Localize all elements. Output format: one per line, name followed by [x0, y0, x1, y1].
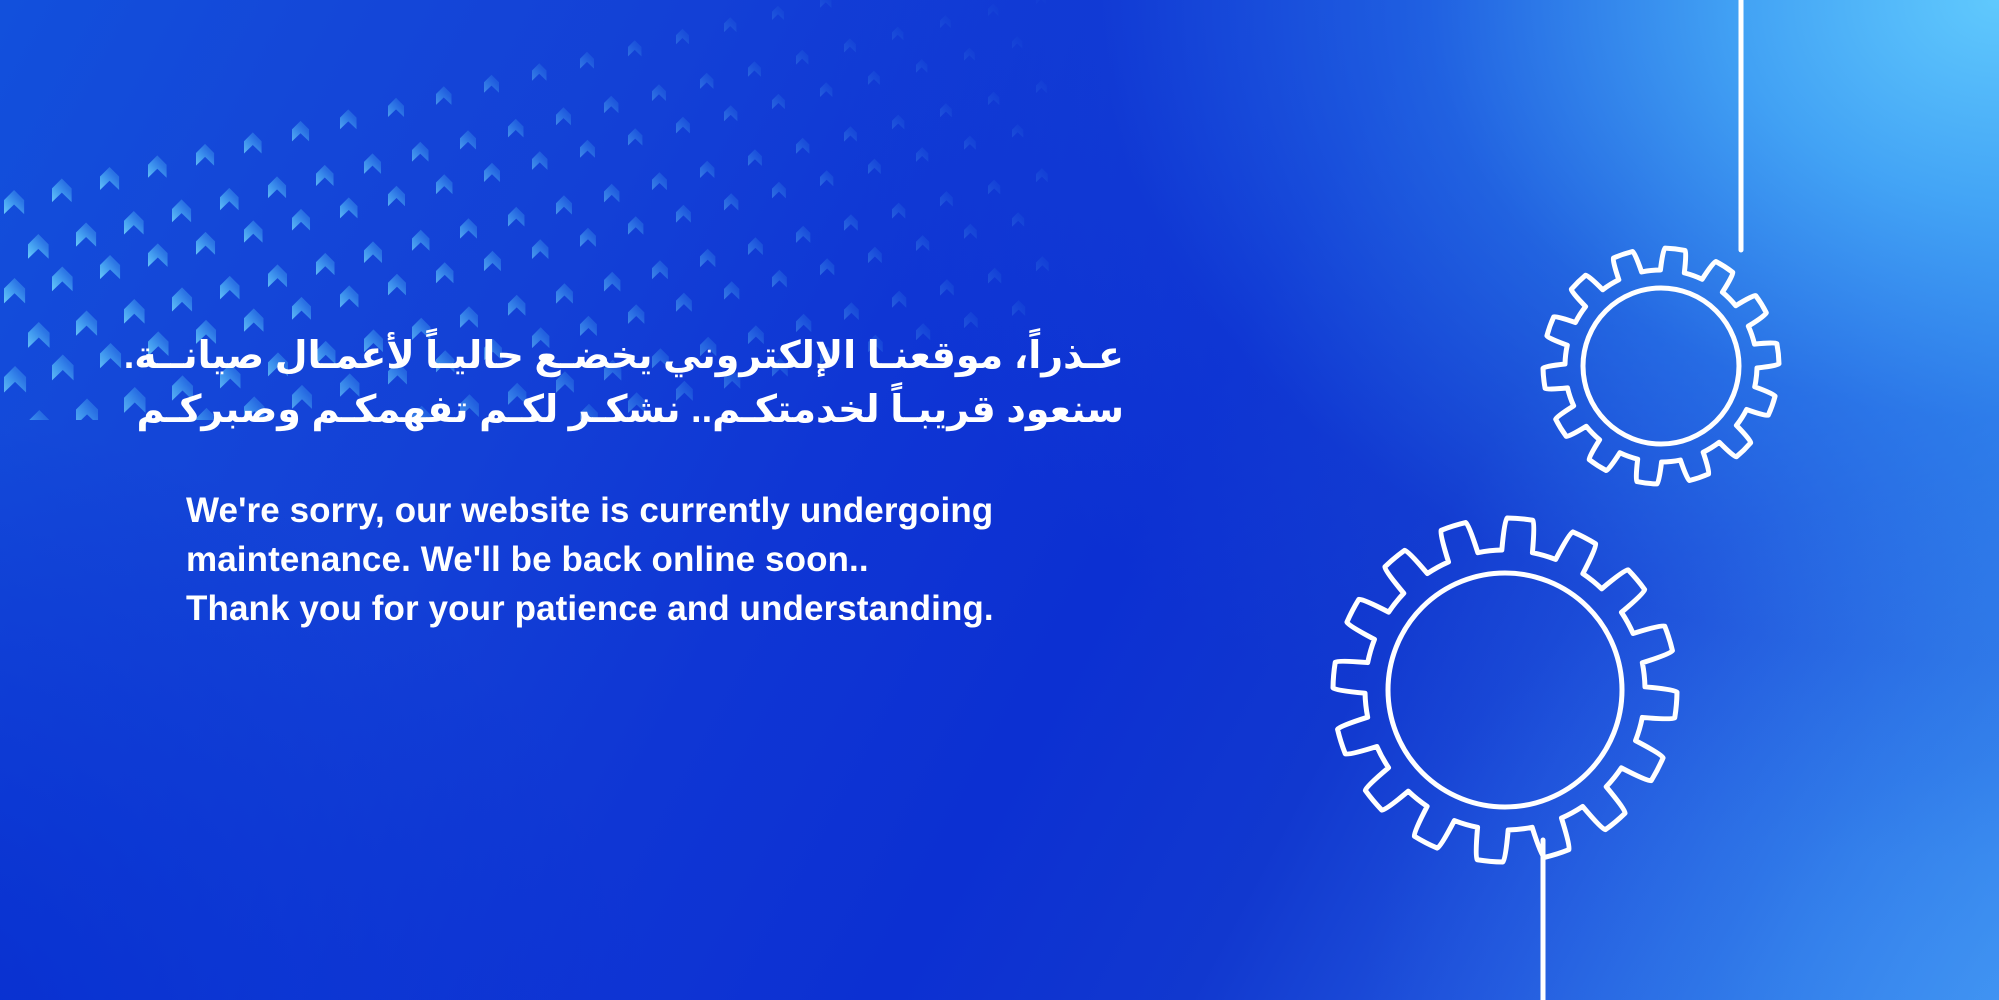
arabic-line-2: سنعود قريبـاً لخدمتكـم.. نشكـر لكـم تفهم… — [186, 384, 1124, 438]
arabic-message: عـذراً، موقعنـا الإلكتروني يخضـع حاليـاً… — [186, 330, 1124, 438]
english-line-1: We're sorry, our website is currently un… — [186, 486, 1186, 535]
english-message: We're sorry, our website is currently un… — [186, 486, 1186, 633]
arabic-line-1: عـذراً، موقعنـا الإلكتروني يخضـع حاليـاً… — [186, 330, 1124, 384]
message-content: عـذراً، موقعنـا الإلكتروني يخضـع حاليـاً… — [186, 330, 1186, 633]
english-line-2: maintenance. We'll be back online soon.. — [186, 535, 1186, 584]
english-line-3: Thank you for your patience and understa… — [186, 584, 1186, 633]
maintenance-page: عـذراً، موقعنـا الإلكتروني يخضـع حاليـاً… — [0, 0, 1999, 1000]
